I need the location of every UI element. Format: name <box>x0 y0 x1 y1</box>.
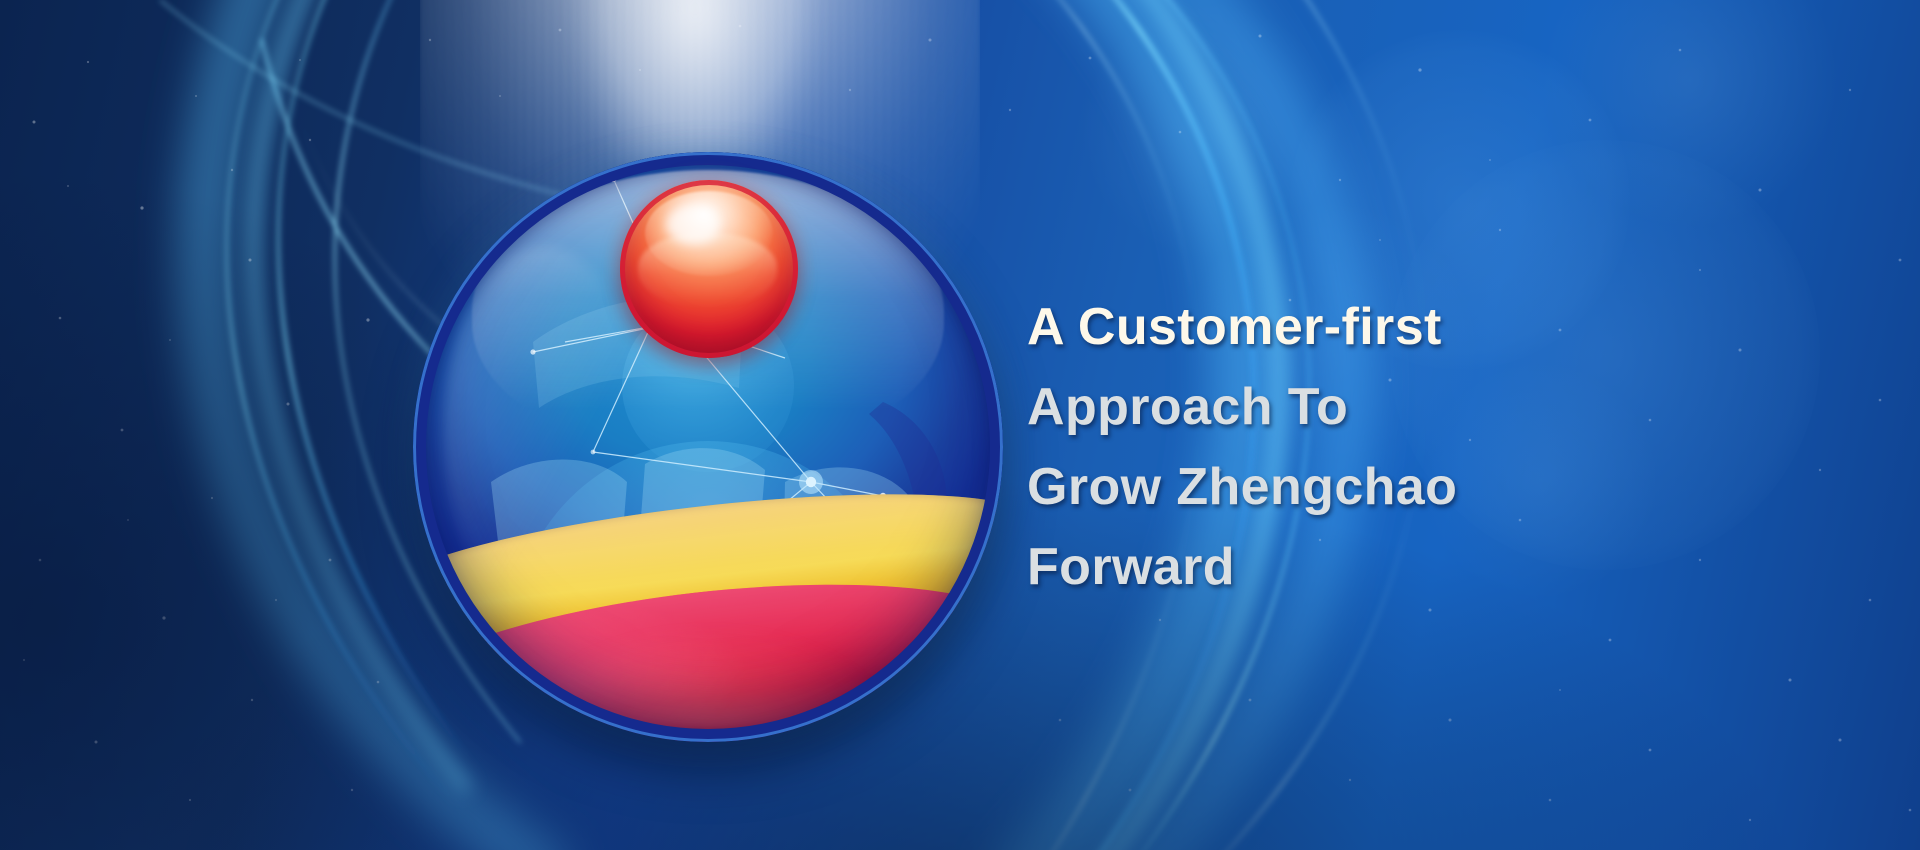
headline-block: A Customer-first Approach To Grow Zhengc… <box>1027 287 1647 607</box>
red-sphere-rim <box>620 180 798 358</box>
headline-line-4: Forward <box>1027 527 1647 607</box>
headline-line-2: Approach To <box>1027 367 1647 447</box>
headline-line-1: A Customer-first <box>1027 287 1647 367</box>
headline-line-3: Grow Zhengchao <box>1027 447 1647 527</box>
red-accent-sphere <box>620 180 798 358</box>
hero-banner: A Customer-first Approach To Grow Zhengc… <box>0 0 1920 850</box>
